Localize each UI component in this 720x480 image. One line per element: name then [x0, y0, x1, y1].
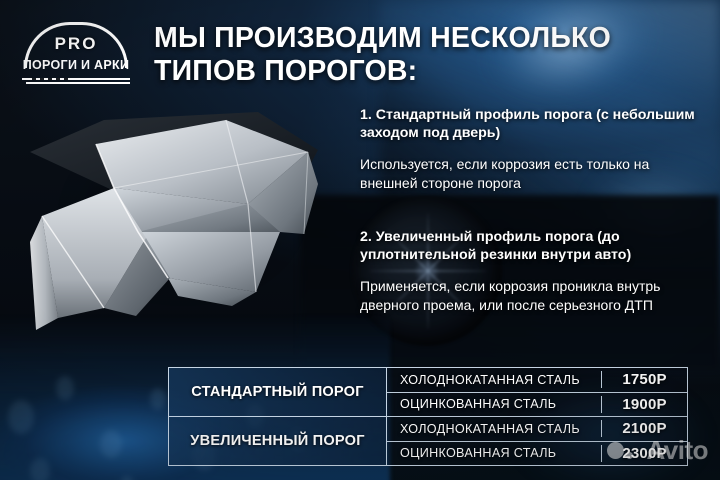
price-group-label-standard: СТАНДАРТНЫЙ ПОРОГ	[169, 368, 386, 416]
material-label: ОЦИНКОВАННАЯ СТАЛЬ	[387, 446, 601, 460]
price-table-group-column: СТАНДАРТНЫЙ ПОРОГ УВЕЛИЧЕННЫЙ ПОРОГ	[169, 368, 387, 465]
sill-type-2-body: Применяется, если коррозия проникла внут…	[360, 277, 705, 314]
page-title: МЫ ПРОИЗВОДИМ НЕСКОЛЬКО ТИПОВ ПОРОГОВ:	[154, 22, 699, 88]
sill-type-2-block: 2. Увеличенный профиль порога (до уплотн…	[360, 228, 705, 314]
avito-watermark: Avito	[607, 435, 708, 466]
price-group-label-extended: УВЕЛИЧЕННЫЙ ПОРОГ	[169, 416, 386, 465]
price-value: 1900Р	[601, 396, 687, 413]
logo-brand-name: ПОРОГИ И АРКИ	[10, 58, 142, 72]
sill-type-2-title: 2. Увеличенный профиль порога (до уплотн…	[360, 228, 705, 264]
logo-mark-text: PRO	[10, 34, 142, 54]
brand-logo: PRO ПОРОГИ И АРКИ	[10, 14, 142, 88]
sill-type-1-title: 1. Стандартный профиль порога (с небольш…	[360, 106, 705, 142]
sill-type-1-body: Используется, если коррозия есть только …	[360, 155, 705, 192]
price-value: 1750Р	[601, 371, 687, 388]
table-row: ХОЛОДНОКАТАННАЯ СТАЛЬ 1750Р	[387, 368, 687, 392]
table-row: ОЦИНКОВАННАЯ СТАЛЬ 1900Р	[387, 392, 687, 417]
avito-wordmark: Avito	[646, 435, 708, 466]
sill-type-1-block: 1. Стандартный профиль порога (с небольш…	[360, 106, 705, 192]
advertisement-banner: PRO ПОРОГИ И АРКИ МЫ ПРОИЗВОДИМ НЕСКОЛЬК…	[0, 0, 720, 480]
material-label: ХОЛОДНОКАТАННАЯ СТАЛЬ	[387, 422, 601, 436]
logo-speed-dash	[32, 78, 36, 80]
material-label: ОЦИНКОВАННАЯ СТАЛЬ	[387, 397, 601, 411]
sill-panel-product-photo	[18, 92, 348, 332]
avito-dots-icon	[607, 440, 641, 462]
material-label: ХОЛОДНОКАТАННАЯ СТАЛЬ	[387, 373, 601, 387]
